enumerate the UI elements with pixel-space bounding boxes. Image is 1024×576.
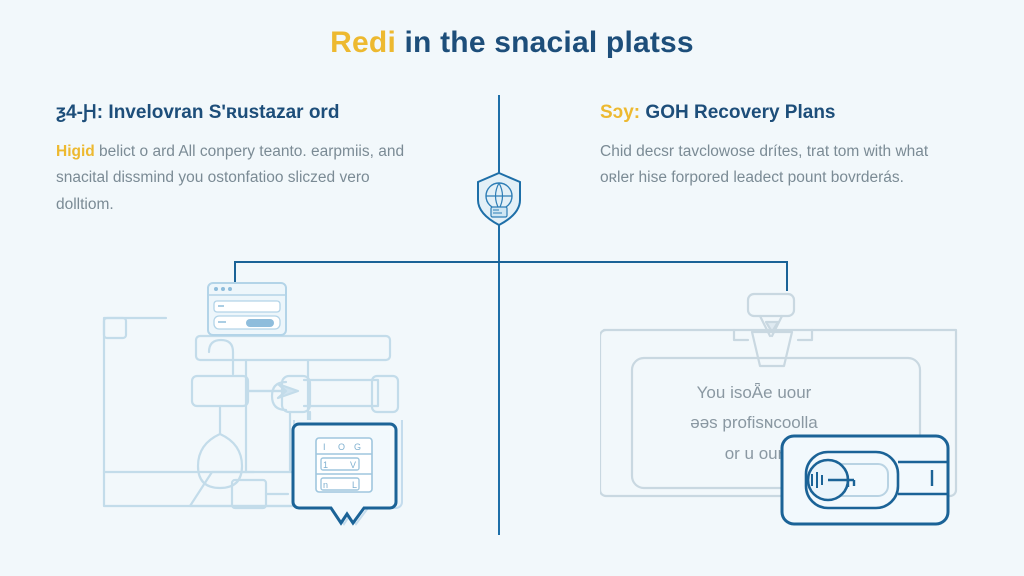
left-body-text: belict o ard All conpery teanto. earpmii… bbox=[56, 143, 404, 213]
right-heading-rest: GOH Recovery Plans bbox=[640, 102, 835, 123]
svg-text:n: n bbox=[323, 480, 328, 490]
key-card-icon bbox=[780, 434, 950, 526]
svg-text:L: L bbox=[352, 480, 357, 490]
page-title: Redi in the snacial platss bbox=[0, 26, 1024, 60]
svg-text:V: V bbox=[350, 460, 356, 470]
speech-bubble-form-icon: IOG 1V nL bbox=[288, 416, 408, 528]
left-column-heading: ƺ4-Ԩ: Invelovran Ѕʹʀustazar ord bbox=[56, 101, 411, 125]
infographic-canvas: Redi in the snacial platss ƺ4-Ԩ: Invelov… bbox=[0, 0, 1024, 576]
page-title-accent: Redi bbox=[330, 26, 396, 59]
right-heading-prefix: Sɔy: bbox=[600, 102, 640, 123]
left-column-body: Higid belict o ard All conpery teanto. e… bbox=[56, 139, 411, 219]
page-title-rest: in the snacial platss bbox=[396, 26, 694, 59]
left-body-accent: Higid bbox=[56, 143, 95, 160]
svg-text:I: I bbox=[323, 442, 326, 452]
right-column-heading: Sɔy: GOH Recovery Plans bbox=[600, 101, 952, 125]
timeline-divider bbox=[498, 95, 500, 535]
svg-text:G: G bbox=[354, 442, 361, 452]
right-column-body: Chid decsr tavclowose drítes, trat tom w… bbox=[600, 139, 952, 192]
left-heading-prefix: ƺ4-Ԩ: bbox=[56, 102, 103, 123]
svg-text:1: 1 bbox=[323, 460, 328, 470]
browser-window-icon bbox=[208, 283, 286, 335]
left-column: ƺ4-Ԩ: Invelovran Ѕʹʀustazar ord Higid be… bbox=[56, 101, 411, 219]
shield-globe-icon bbox=[473, 170, 525, 228]
right-column: Sɔy: GOH Recovery Plans Chid decsr tavcl… bbox=[600, 101, 952, 192]
left-heading-rest: Invelovran Ѕʹʀustazar ord bbox=[103, 102, 339, 123]
svg-text:O: O bbox=[338, 442, 345, 452]
